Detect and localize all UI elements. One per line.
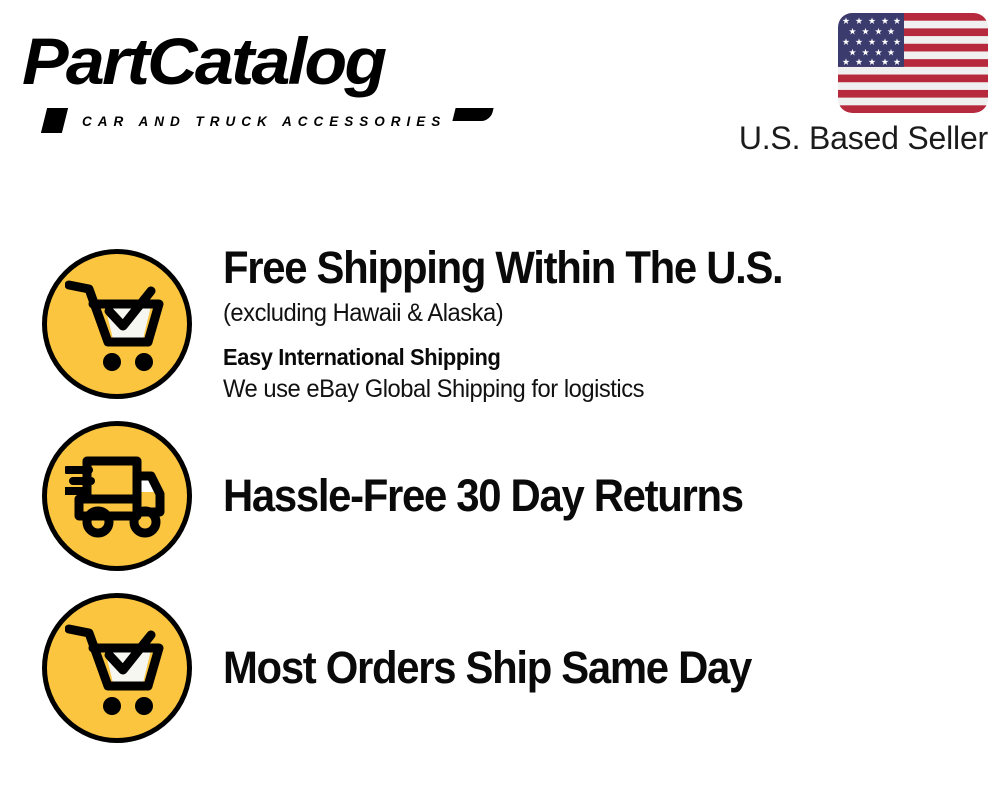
- logo-slash-left-icon: [41, 108, 68, 133]
- badge-text-returns: Hassle-Free 30 Day Returns: [223, 471, 1000, 521]
- brand-wordmark: PartCatalog: [22, 26, 384, 96]
- badge-text-free-shipping: Free Shipping Within The U.S. (excluding…: [223, 243, 1000, 405]
- badge-headline: Hassle-Free 30 Day Returns: [223, 471, 927, 521]
- badge-row-free-shipping: Free Shipping Within The U.S. (excluding…: [0, 248, 1000, 400]
- us-based-seller-label: U.S. Based Seller: [716, 120, 988, 156]
- badge-subhead-international: Easy International Shipping: [223, 343, 942, 371]
- badge-text-same-day-ship: Most Orders Ship Same Day: [223, 643, 1000, 693]
- shopping-cart-check-icon: [42, 593, 192, 743]
- page-header: PartCatalog CAR AND TRUCK ACCESSORIES: [0, 0, 1000, 175]
- us-flag-icon: [838, 13, 988, 113]
- badge-subnote-international: We use eBay Global Shipping for logistic…: [223, 373, 942, 405]
- badge-row-same-day-ship: Most Orders Ship Same Day: [0, 592, 1000, 744]
- badge-headline: Most Orders Ship Same Day: [223, 643, 927, 693]
- badge-row-returns: Hassle-Free 30 Day Returns: [0, 420, 1000, 572]
- us-based-seller-block: U.S. Based Seller: [716, 13, 988, 156]
- shopping-cart-check-icon: [42, 249, 192, 399]
- badge-headline: Free Shipping Within The U.S.: [223, 243, 927, 293]
- logo-slash-right-icon: [452, 108, 493, 121]
- brand-tagline: CAR AND TRUCK ACCESSORIES: [82, 114, 446, 129]
- badge-subline: (excluding Hawaii & Alaska): [223, 297, 942, 329]
- delivery-truck-icon: [42, 421, 192, 571]
- brand-logo: PartCatalog CAR AND TRUCK ACCESSORIES: [22, 26, 492, 111]
